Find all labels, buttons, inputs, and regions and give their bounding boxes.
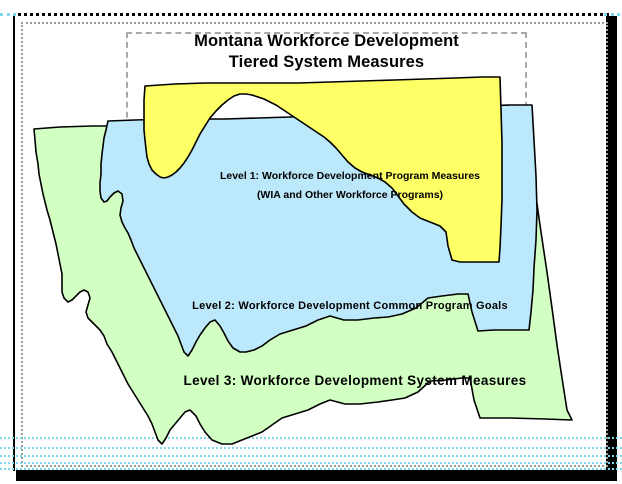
level-1-label-line-1: Level 1: Workforce Development Program M… xyxy=(150,167,550,186)
level-3-label: Level 3: Workforce Development System Me… xyxy=(140,373,570,388)
level-1-label: Level 1: Workforce Development Program M… xyxy=(150,167,550,206)
title-line-1: Montana Workforce Development xyxy=(126,31,527,52)
title-line-2: Tiered System Measures xyxy=(126,52,527,73)
diagram-canvas: Montana Workforce Development Tiered Sys… xyxy=(0,0,622,484)
level-1-label-line-2: (WIA and Other Workforce Programs) xyxy=(150,186,550,205)
level-2-label: Level 2: Workforce Development Common Pr… xyxy=(150,300,550,312)
page-title: Montana Workforce Development Tiered Sys… xyxy=(126,31,527,74)
